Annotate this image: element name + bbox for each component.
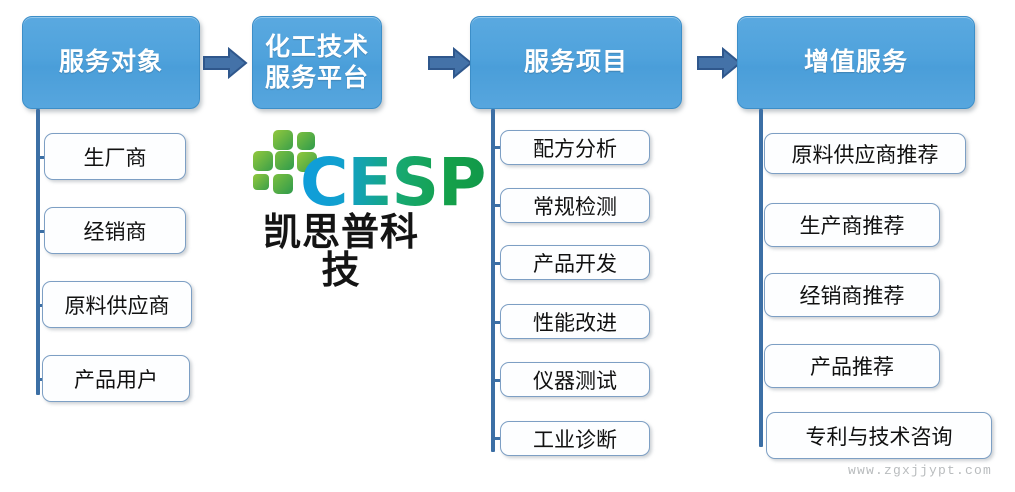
item-label: 性能改进 (533, 307, 617, 337)
cesp-chinese-name: 凯思普科技 (246, 214, 436, 290)
item-label: 配方分析 (533, 133, 617, 163)
item-box-yuanliao-tuijian[interactable]: 原料供应商推荐 (764, 133, 966, 174)
item-label: 生产商推荐 (800, 210, 905, 240)
item-label: 仪器测试 (533, 365, 617, 395)
item-box-yuanliaogongyingshang[interactable]: 原料供应商 (42, 281, 192, 328)
cesp-wordmark: CESP (300, 150, 485, 216)
header-box-service-targets[interactable]: 服务对象 (22, 16, 200, 109)
item-box-changguijiance[interactable]: 常规检测 (500, 188, 650, 223)
item-box-jingxiaoshang-tuijian[interactable]: 经销商推荐 (764, 273, 940, 317)
header-label: 化工技术服务平台 (261, 32, 373, 93)
connector-trunk-col4 (759, 109, 763, 447)
arrow-icon-1 (203, 47, 248, 79)
item-box-xingnenggaijin[interactable]: 性能改进 (500, 304, 650, 339)
item-box-jingxiaoshang[interactable]: 经销商 (44, 207, 186, 254)
item-box-peifangfenxi[interactable]: 配方分析 (500, 130, 650, 165)
item-label: 生厂商 (84, 142, 147, 172)
item-label: 产品推荐 (810, 351, 894, 381)
item-label: 经销商推荐 (800, 280, 905, 310)
flowchart-canvas: 服务对象 生厂商 经销商 原料供应商 产品用户 化工技术服务平台 (0, 0, 1015, 492)
item-box-shengchanshang-tuijian[interactable]: 生产商推荐 (764, 203, 940, 247)
item-box-shengchangshang[interactable]: 生厂商 (44, 133, 186, 180)
item-label: 产品用户 (74, 364, 158, 394)
item-box-chanpinkaifa[interactable]: 产品开发 (500, 245, 650, 280)
item-box-chanpinyonghu[interactable]: 产品用户 (42, 355, 190, 402)
connector-trunk-col1 (36, 109, 40, 395)
connector-trunk-col3 (491, 109, 495, 452)
header-label: 服务项目 (524, 47, 628, 78)
item-label: 产品开发 (533, 248, 617, 278)
item-box-gongyezhenduan[interactable]: 工业诊断 (500, 421, 650, 456)
cesp-logo: CESP 凯思普科技 (246, 128, 436, 264)
header-box-service-projects[interactable]: 服务项目 (470, 16, 682, 109)
item-box-yiqiceshi[interactable]: 仪器测试 (500, 362, 650, 397)
item-label: 常规检测 (533, 191, 617, 221)
item-label: 专利与技术咨询 (806, 421, 953, 451)
item-label: 经销商 (84, 216, 147, 246)
arrow-icon-3 (697, 47, 742, 79)
arrow-icon-2 (428, 47, 473, 79)
item-box-chanpin-tuijian[interactable]: 产品推荐 (764, 344, 940, 388)
header-box-platform[interactable]: 化工技术服务平台 (252, 16, 382, 109)
item-label: 原料供应商推荐 (792, 139, 939, 169)
header-box-value-added[interactable]: 增值服务 (737, 16, 975, 109)
item-label: 工业诊断 (533, 424, 617, 454)
header-label: 增值服务 (804, 47, 908, 78)
item-label: 原料供应商 (65, 290, 170, 320)
header-label: 服务对象 (59, 47, 163, 78)
item-box-zhuanli-jishu-zixun[interactable]: 专利与技术咨询 (766, 412, 992, 459)
watermark-url: www.zgxjjypt.com (848, 463, 992, 478)
